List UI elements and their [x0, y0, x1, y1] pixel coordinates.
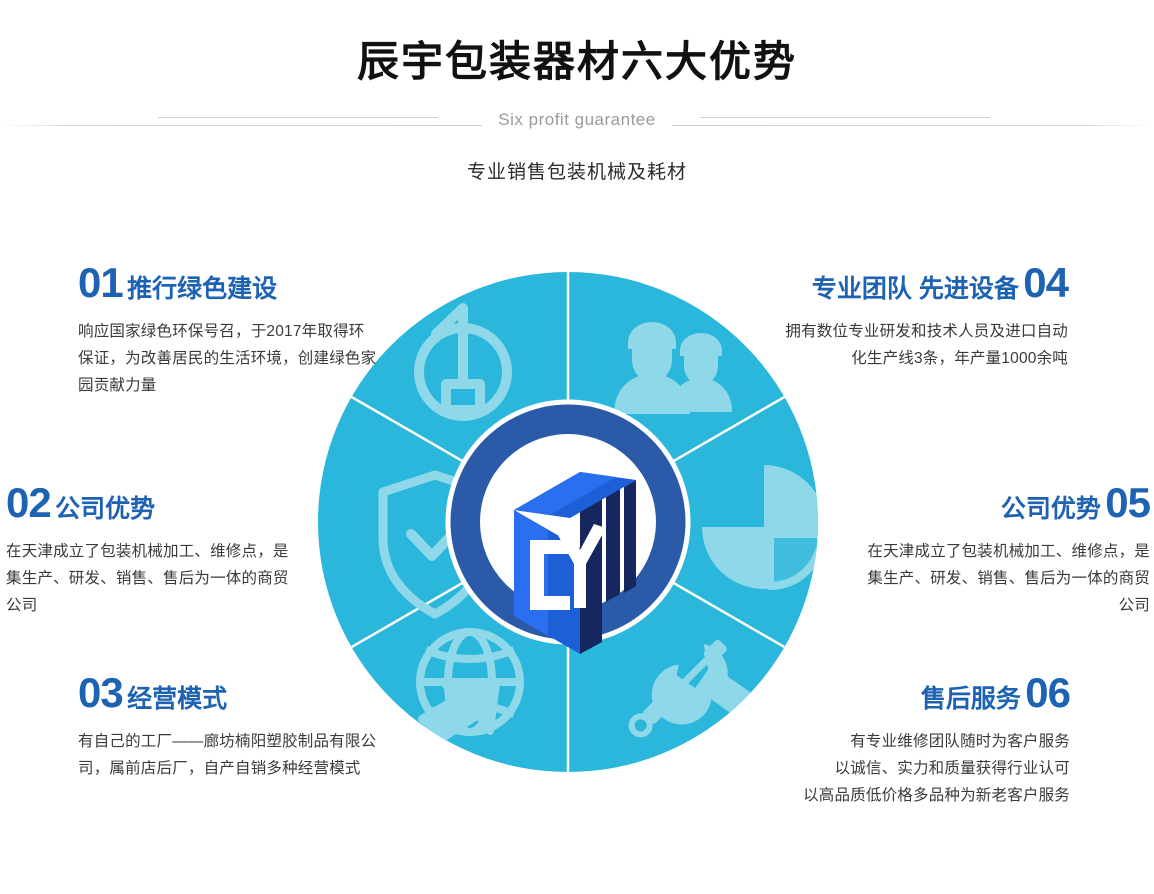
feature-heading-03: 03 经营模式	[78, 672, 390, 714]
feature-block-03: 03 经营模式 有自己的工厂——廊坊楠阳塑胶制品有限公司，属前店后厂，自产自销多…	[78, 672, 390, 782]
feature-title-02: 公司优势	[55, 495, 155, 523]
feature-title-03: 经营模式	[127, 685, 227, 713]
feature-body-04: 拥有数位专业研发和技术人员及进口自动化生产线3条，年产量1000余吨	[778, 318, 1068, 372]
feature-heading-02: 02 公司优势	[6, 482, 298, 524]
feature-block-02: 02 公司优势 在天津成立了包装机械加工、维修点，是集生产、研发、销售、售后为一…	[6, 482, 298, 619]
feature-block-05: 公司优势 05 在天津成立了包装机械加工、维修点，是集生产、研发、销售、售后为一…	[858, 482, 1150, 619]
feature-block-06: 售后服务 06 有专业维修团队随时为客户服务以诚信、实力和质量获得行业认可以高品…	[770, 672, 1070, 809]
feature-heading-04: 专业团队 先进设备 04	[778, 262, 1068, 304]
feature-body-01: 响应国家绿色环保号召，于2017年取得环保证，为改善居民的生活环境，创建绿色家园…	[78, 318, 378, 399]
subtitle-english-text: Six profit guarantee	[482, 110, 671, 129]
subtitle-chinese: 专业销售包装机械及耗材	[0, 157, 1154, 184]
feature-block-04: 专业团队 先进设备 04 拥有数位专业研发和技术人员及进口自动化生产线3条，年产…	[778, 262, 1068, 372]
feature-heading-01: 01 推行绿色建设	[78, 262, 378, 304]
page-title: 辰宇包装器材六大优势	[0, 36, 1154, 88]
feature-number-04: 04	[1023, 259, 1068, 306]
feature-title-01: 推行绿色建设	[127, 275, 277, 303]
feature-title-05: 公司优势	[1001, 495, 1101, 523]
feature-title-04: 专业团队 先进设备	[812, 275, 1019, 303]
feature-number-06: 06	[1025, 669, 1070, 716]
feature-block-01: 01 推行绿色建设 响应国家绿色环保号召，于2017年取得环保证，为改善居民的生…	[78, 262, 378, 399]
hub-wheel-diagram	[318, 272, 818, 772]
feature-number-01: 01	[78, 259, 123, 306]
feature-number-02: 02	[6, 479, 51, 526]
feature-heading-05: 公司优势 05	[858, 482, 1150, 524]
feature-number-03: 03	[78, 669, 123, 716]
feature-number-05: 05	[1105, 479, 1150, 526]
feature-body-02: 在天津成立了包装机械加工、维修点，是集生产、研发、销售、售后为一体的商贸公司	[6, 538, 298, 619]
feature-body-03: 有自己的工厂——廊坊楠阳塑胶制品有限公司，属前店后厂，自产自销多种经营模式	[78, 728, 390, 782]
subtitle-english: Six profit guarantee	[0, 110, 1154, 130]
feature-heading-06: 售后服务 06	[770, 672, 1070, 714]
header: 辰宇包装器材六大优势 Six profit guarantee 专业销售包装机械…	[0, 0, 1154, 200]
feature-body-06: 有专业维修团队随时为客户服务以诚信、实力和质量获得行业认可以高品质低价格多品种为…	[770, 728, 1070, 809]
wheel-svg	[318, 272, 818, 772]
feature-title-06: 售后服务	[921, 685, 1021, 713]
feature-body-05: 在天津成立了包装机械加工、维修点，是集生产、研发、销售、售后为一体的商贸公司	[858, 538, 1150, 619]
